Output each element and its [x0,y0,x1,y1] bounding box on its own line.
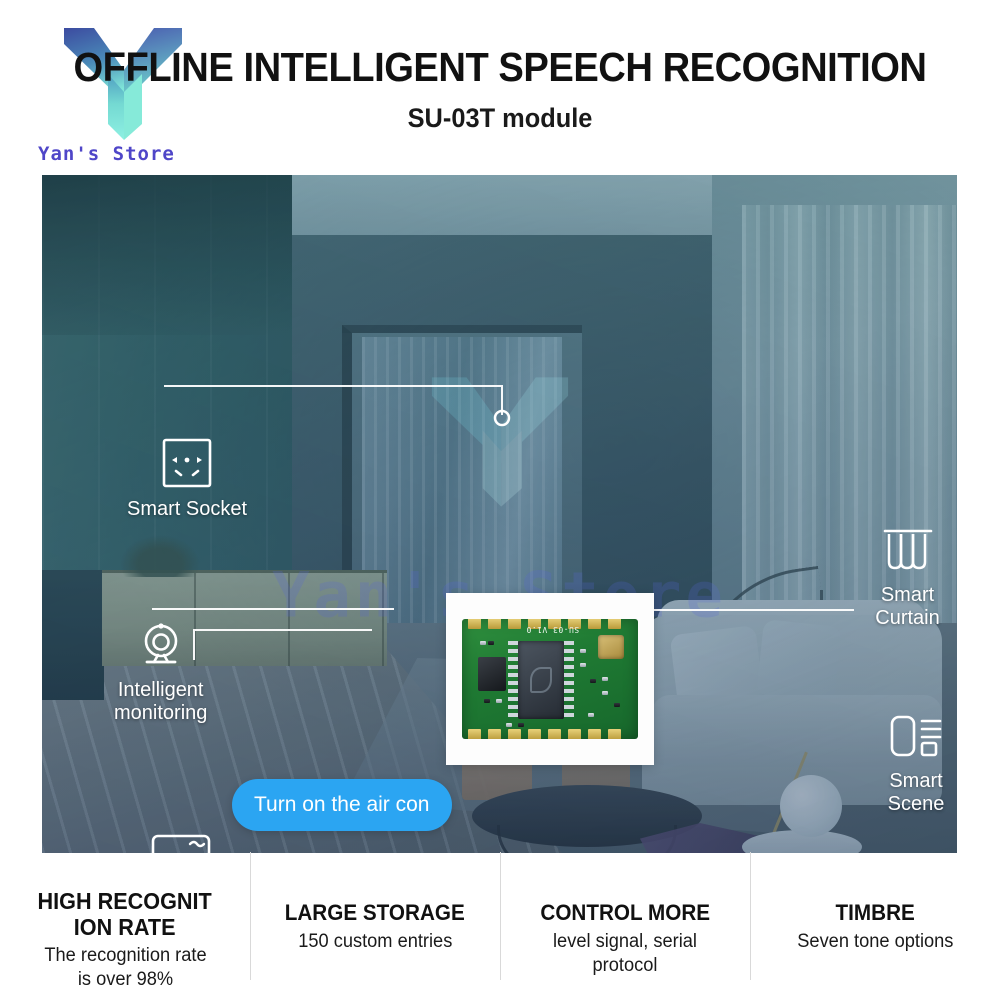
hero-scene: Yan's Store [42,175,957,853]
callout-intelligent-monitoring[interactable]: Intelligent monitoring [114,618,207,725]
feature-detail: The recognition rate is over 98% [44,944,206,992]
header: Yan's Store OFFLINE INTELLIGENT SPEECH R… [0,0,1000,175]
callout-label: Smart Curtain [858,584,957,630]
callout-label: Smart Socket [127,498,247,521]
feature-item: HIGH RECOGNIT ION RATE The recognition r… [0,860,250,1000]
feature-detail: Seven tone options [797,930,953,954]
curtain-icon [882,527,934,575]
feature-item: TIMBRE Seven tone options [750,860,1000,1000]
power-socket-icon [161,437,213,489]
mems-microphone [598,635,624,659]
feature-item: LARGE STORAGE 150 custom entries [250,860,500,1000]
callout-label: Smart Scene [875,770,957,816]
page-subtitle: SU-03T module [30,103,970,134]
scene-panel-icon [888,713,944,761]
feature-detail: 150 custom entries [298,930,452,954]
callout-smart-socket[interactable]: Smart Socket [127,437,247,521]
feature-item: CONTROL MORE level signal, serial protoc… [500,860,750,1000]
feature-detail: level signal, serial protocol [553,930,697,978]
callout-label: Intelligent monitoring [114,679,207,725]
callout-smart-curtain[interactable]: Smart Curtain [858,527,957,630]
feature-heading: TIMBRE [835,900,914,926]
bubble-turn-on[interactable]: Turn on the air con [232,779,452,831]
page-title: OFFLINE INTELLIGENT SPEECH RECOGNITION [35,44,965,90]
bubble-text: Turn on the air con [254,793,430,817]
feature-bar: HIGH RECOGNIT ION RATE The recognition r… [0,860,1000,1000]
module-photo-card[interactable]: SU-03 V1.0 [446,593,654,765]
callout-air-conditioner[interactable]: Air conditioner [117,830,245,853]
store-name: Yan's Store [38,143,175,165]
webcam-icon [135,618,187,670]
feature-heading: LARGE STORAGE [285,900,465,926]
pcb-silkscreen: SU-03 V1.0 [526,625,579,634]
callout-smart-scene[interactable]: Smart Scene [875,713,957,816]
feature-heading: HIGH RECOGNIT ION RATE [38,888,212,940]
air-conditioner-icon [150,830,212,853]
infographic-page: Yan's Store OFFLINE INTELLIGENT SPEECH R… [0,0,1000,1000]
feature-heading: CONTROL MORE [540,900,710,926]
pcb-board: SU-03 V1.0 [462,619,638,739]
